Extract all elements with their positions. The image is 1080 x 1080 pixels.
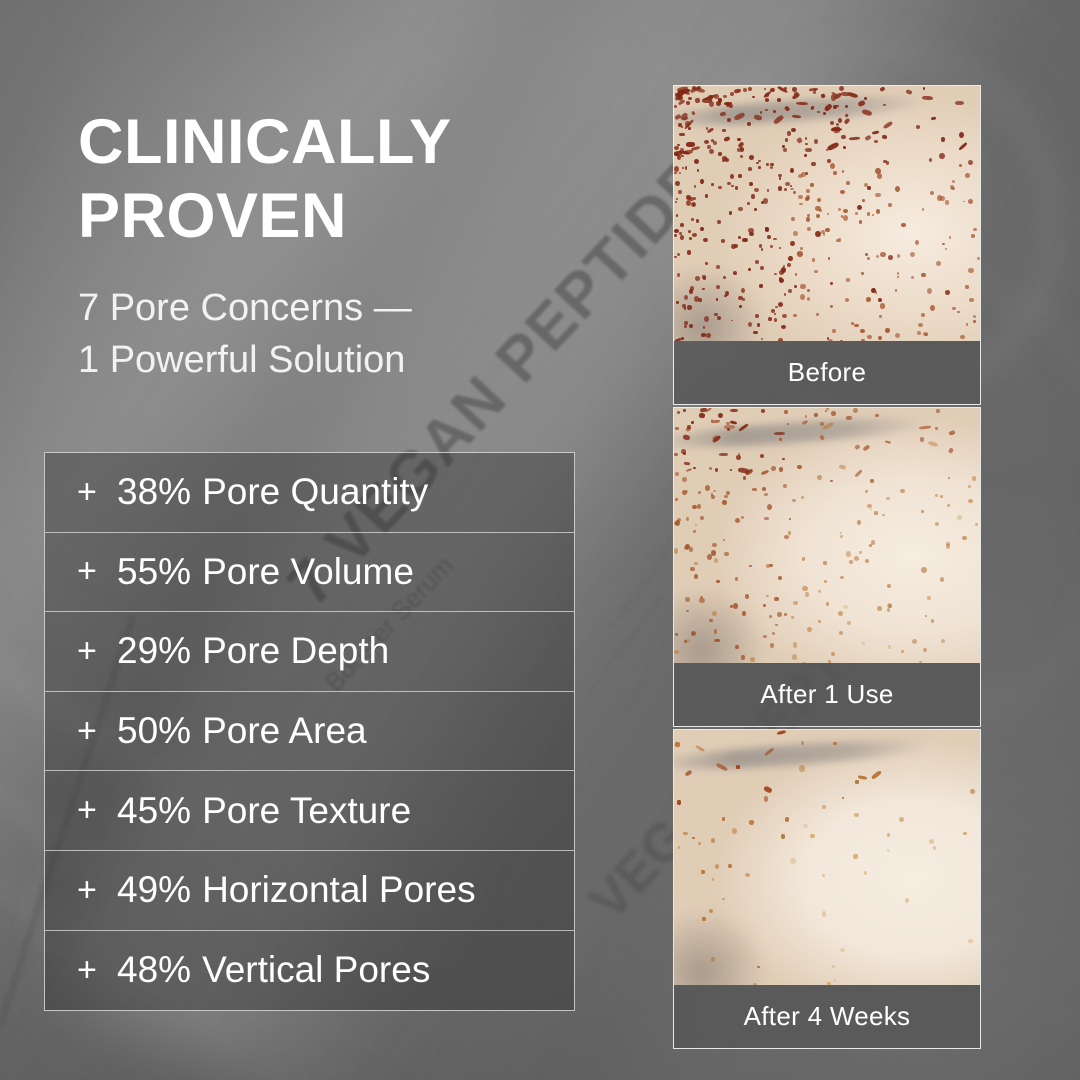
subheadline-line-2: 1 Powerful Solution (78, 334, 412, 386)
table-row: +55%Pore Volume (45, 533, 574, 613)
left-content-column: CLINICALLY PROVEN 7 Pore Concerns — 1 Po… (0, 0, 660, 1080)
clinical-results-table: +38%Pore Quantity+55%Pore Volume+29%Pore… (44, 452, 575, 1011)
stat-label: Horizontal Pores (202, 869, 476, 911)
before-after-panel-group: BeforeAfter 1 UseAfter 4 Weeks (673, 85, 981, 1045)
headline-line-2: PROVEN (78, 179, 452, 253)
plus-icon: + (77, 791, 117, 830)
before-after-panel: Before (673, 85, 981, 405)
headline-line-1: CLINICALLY (78, 105, 452, 179)
plus-icon: + (77, 632, 117, 671)
before-after-panel: After 4 Weeks (673, 729, 981, 1049)
pore-spots (674, 730, 980, 985)
before-after-panel: After 1 Use (673, 407, 981, 727)
skin-micrograph-image (674, 408, 980, 663)
panel-caption: After 1 Use (674, 663, 980, 726)
table-row: +50%Pore Area (45, 692, 574, 772)
stat-value: 45% (117, 790, 191, 832)
stat-value: 49% (117, 869, 191, 911)
stat-label: Pore Quantity (202, 471, 428, 513)
stat-value: 38% (117, 471, 191, 513)
table-row: +48%Vertical Pores (45, 931, 574, 1011)
skin-micrograph-image (674, 86, 980, 341)
stat-value: 50% (117, 710, 191, 752)
subheadline-line-1: 7 Pore Concerns — (78, 282, 412, 334)
skin-micrograph-image (674, 730, 980, 985)
stat-value: 48% (117, 949, 191, 991)
stat-label: Pore Depth (202, 630, 389, 672)
table-row: +29%Pore Depth (45, 612, 574, 692)
stat-value: 55% (117, 551, 191, 593)
plus-icon: + (77, 552, 117, 591)
pore-spots (674, 408, 980, 663)
pore-spots (674, 86, 980, 341)
page-title: CLINICALLY PROVEN (78, 105, 452, 254)
stat-label: Vertical Pores (202, 949, 430, 991)
plus-icon: + (77, 871, 117, 910)
plus-icon: + (77, 473, 117, 512)
stat-label: Pore Volume (202, 551, 414, 593)
panel-caption: After 4 Weeks (674, 985, 980, 1048)
stat-label: Pore Area (202, 710, 367, 752)
table-row: +38%Pore Quantity (45, 453, 574, 533)
table-row: +49%Horizontal Pores (45, 851, 574, 931)
plus-icon: + (77, 712, 117, 751)
panel-caption: Before (674, 341, 980, 404)
plus-icon: + (77, 951, 117, 990)
stat-label: Pore Texture (202, 790, 411, 832)
table-row: +45%Pore Texture (45, 771, 574, 851)
stat-value: 29% (117, 630, 191, 672)
page-subtitle: 7 Pore Concerns — 1 Powerful Solution (78, 282, 412, 386)
